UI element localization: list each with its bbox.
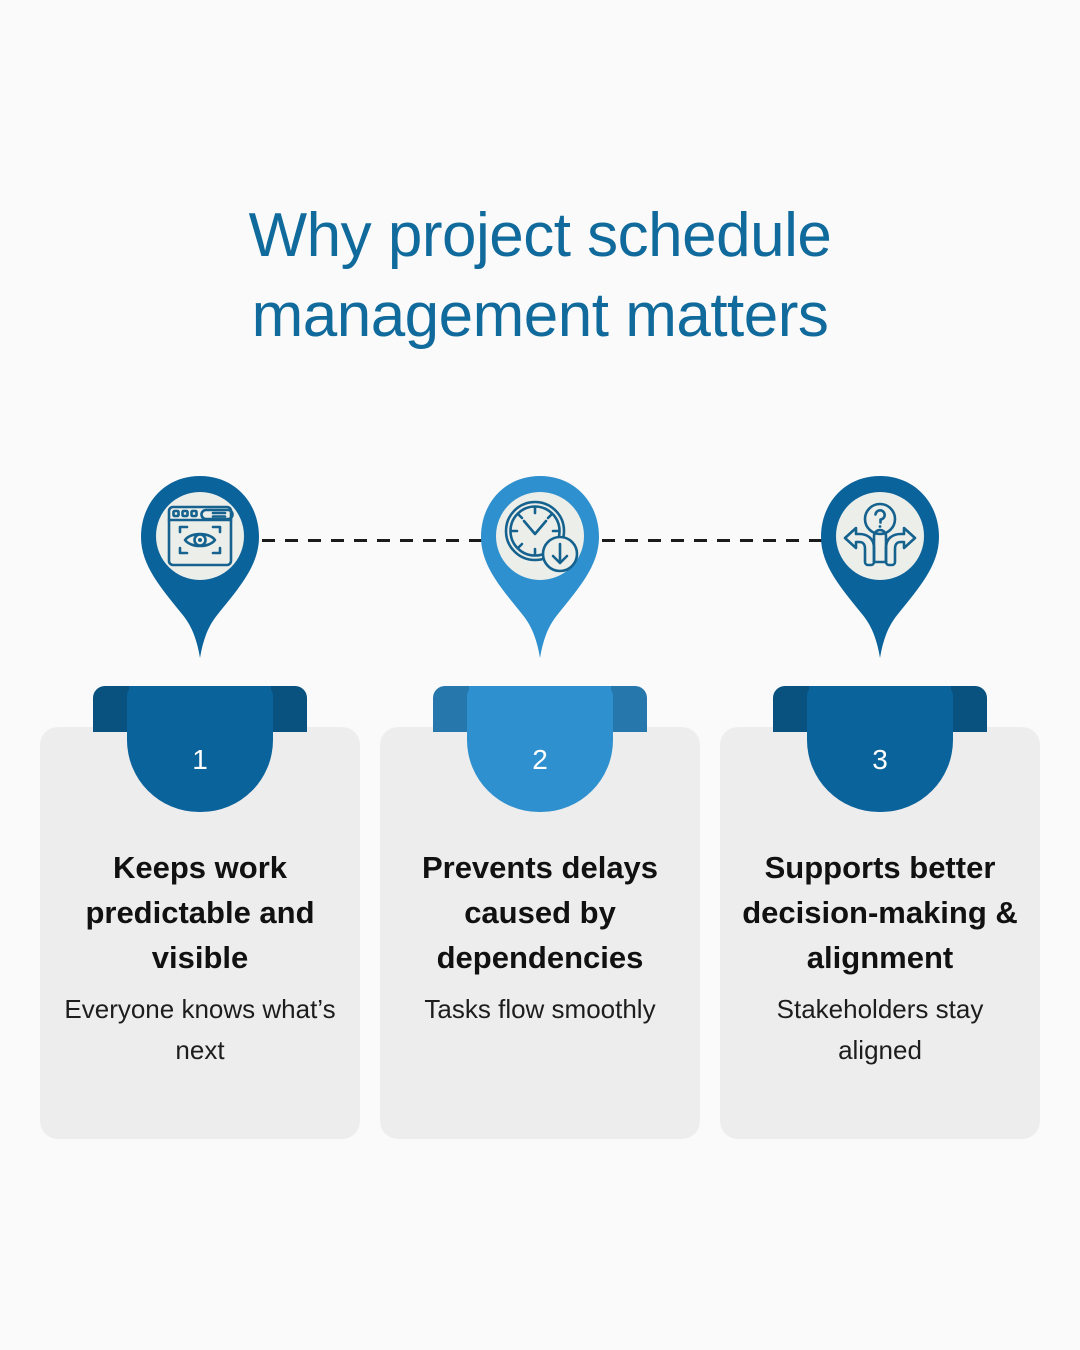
badge-number-label-2: 2	[532, 746, 548, 774]
map-pin-step-2[interactable]	[474, 474, 606, 660]
step-heading-3: Supports better decision-making & alignm…	[720, 845, 1040, 980]
step-number-badge-1: 1	[93, 686, 307, 812]
connector-dashed-line-2-3	[602, 539, 830, 542]
step-heading-1: Keeps work predictable and visible	[40, 845, 360, 980]
badge-body-1: 1	[127, 686, 273, 812]
connector-dashed-line-1-2	[262, 539, 490, 542]
step-subtext-2: Tasks flow smoothly	[380, 989, 700, 1030]
badge-body-2: 2	[467, 686, 613, 812]
step-heading-2: Prevents delays caused by dependencies	[380, 845, 700, 980]
page-title-line-1: Why project schedule	[0, 196, 1080, 276]
map-pin-step-1[interactable]	[134, 474, 266, 660]
page-title-line-2: management matters	[0, 276, 1080, 356]
map-pin-step-3[interactable]	[814, 474, 946, 660]
step-number-badge-2: 2	[433, 686, 647, 812]
step-number-badge-3: 3	[773, 686, 987, 812]
badge-number-label-1: 1	[192, 746, 208, 774]
step-subtext-3: Stakeholders stay aligned	[720, 989, 1040, 1071]
badge-number-label-3: 3	[872, 746, 888, 774]
page-title: Why project schedule management matters	[0, 196, 1080, 356]
step-subtext-1: Everyone knows what’s next	[40, 989, 360, 1071]
badge-body-3: 3	[807, 686, 953, 812]
